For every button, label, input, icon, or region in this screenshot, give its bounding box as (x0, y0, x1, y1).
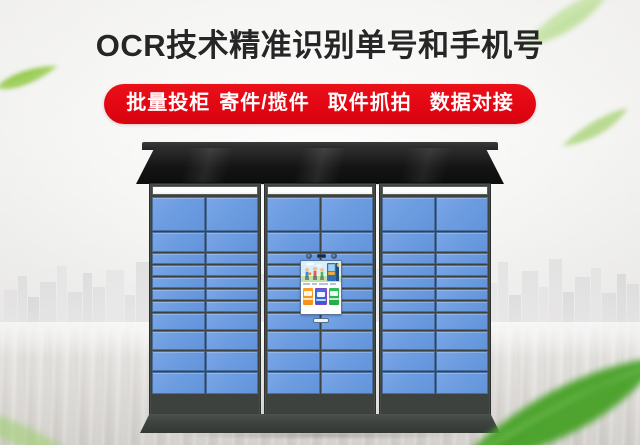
left-bay[interactable] (149, 183, 261, 417)
kiosk-banner-illustration (301, 261, 341, 282)
feature-pill-container: 批量投柜寄件/揽件取件抓拍数据对接 (0, 84, 640, 124)
deposit-tile-label (303, 298, 313, 300)
door-row (267, 232, 373, 252)
door-row (382, 289, 488, 300)
kiosk-screen[interactable] (300, 260, 342, 315)
box-icon (304, 291, 312, 296)
locker-door[interactable] (206, 265, 259, 276)
locker-door[interactable] (152, 313, 205, 330)
door-row (152, 351, 258, 371)
locker-door[interactable] (267, 197, 320, 231)
center-bay[interactable] (264, 183, 376, 417)
locker-door[interactable] (152, 253, 205, 264)
door-row (152, 277, 258, 288)
feature-item-2: 寄件/揽件 (219, 92, 310, 114)
locker-door[interactable] (382, 253, 435, 264)
door-row (382, 301, 488, 312)
door-row (382, 372, 488, 394)
pickup-tile-label (316, 299, 326, 301)
door-row (152, 265, 258, 276)
locker-door[interactable] (152, 232, 205, 252)
door-row (382, 265, 488, 276)
door-row (382, 331, 488, 350)
scanner-bar-icon (317, 254, 326, 258)
locker-door[interactable] (382, 301, 435, 312)
locker-door[interactable] (382, 289, 435, 300)
canopy-highlight (136, 148, 504, 184)
kiosk-action-tiles (301, 286, 341, 307)
locker-door[interactable] (436, 289, 489, 300)
locker-door[interactable] (206, 331, 259, 350)
cabinet-plinth (140, 414, 500, 433)
locker-door[interactable] (436, 351, 489, 371)
door-row (152, 331, 258, 350)
locker-door[interactable] (152, 289, 205, 300)
locker-door[interactable] (206, 253, 259, 264)
door-row (382, 313, 488, 330)
locker-door[interactable] (267, 351, 320, 371)
kiosk-screen-footer (301, 307, 341, 315)
locker-door[interactable] (152, 331, 205, 350)
locker-door[interactable] (152, 277, 205, 288)
door-row (382, 232, 488, 252)
locker-door[interactable] (206, 372, 259, 394)
right-bay[interactable] (379, 183, 491, 417)
locker-door[interactable] (382, 372, 435, 394)
door-row (267, 331, 373, 350)
locker-bays (149, 183, 491, 417)
feature-item-3: 取件抓拍 (328, 92, 412, 114)
locker-door[interactable] (436, 372, 489, 394)
door-row (152, 313, 258, 330)
locker-door[interactable] (267, 372, 320, 394)
door-row (382, 277, 488, 288)
locker-door[interactable] (152, 265, 205, 276)
locker-door[interactable] (206, 351, 259, 371)
locker-door[interactable] (382, 351, 435, 371)
pickup-tile[interactable] (315, 288, 327, 305)
locker-door[interactable] (382, 232, 435, 252)
locker-door[interactable] (436, 301, 489, 312)
left-bay-doors (152, 197, 258, 414)
feature-item-1: 批量投柜 (126, 92, 210, 114)
locker-door[interactable] (321, 351, 374, 371)
kiosk-status-strip (301, 282, 341, 286)
envelope-icon (317, 292, 325, 297)
locker-door[interactable] (152, 197, 205, 231)
door-row (152, 289, 258, 300)
locker-door[interactable] (206, 313, 259, 330)
locker-door[interactable] (321, 197, 374, 231)
door-row (152, 232, 258, 252)
locker-door[interactable] (436, 277, 489, 288)
card-reader-slot[interactable] (313, 318, 329, 323)
door-row (267, 197, 373, 231)
door-row (152, 253, 258, 264)
locker-door[interactable] (321, 232, 374, 252)
send-tile-label (329, 298, 339, 300)
smart-parcel-locker (136, 142, 504, 434)
door-row (382, 351, 488, 371)
locker-door[interactable] (382, 277, 435, 288)
right-bay-header-panel (382, 186, 488, 195)
door-row (152, 197, 258, 231)
locker-door[interactable] (206, 289, 259, 300)
locker-door[interactable] (152, 372, 205, 394)
promo-poster: OCR技术精准识别单号和手机号 批量投柜寄件/揽件取件抓拍数据对接 (0, 0, 640, 445)
door-row (152, 301, 258, 312)
locker-door[interactable] (436, 232, 489, 252)
locker-door[interactable] (436, 265, 489, 276)
camera-sensor-left-icon (306, 253, 312, 259)
locker-door[interactable] (382, 265, 435, 276)
touchscreen-kiosk[interactable] (300, 251, 342, 323)
banner-artwork-icon (301, 261, 341, 282)
deposit-tile[interactable] (303, 288, 313, 305)
locker-door[interactable] (206, 277, 259, 288)
door-row (267, 351, 373, 371)
center-bay-doors (267, 197, 373, 414)
kiosk-sensor-row (300, 251, 342, 260)
door-row (382, 253, 488, 264)
locker-door[interactable] (436, 331, 489, 350)
parcel-icon (330, 291, 338, 296)
door-row (152, 372, 258, 394)
locker-door[interactable] (152, 301, 205, 312)
locker-door[interactable] (436, 197, 489, 231)
locker-door[interactable] (436, 253, 489, 264)
send-tile[interactable] (329, 288, 339, 305)
left-bay-header-panel (152, 186, 258, 195)
locker-door[interactable] (321, 372, 374, 394)
center-bay-header-panel (267, 186, 373, 195)
feature-item-4: 数据对接 (430, 92, 514, 114)
locker-door[interactable] (382, 197, 435, 231)
feature-pill: 批量投柜寄件/揽件取件抓拍数据对接 (104, 84, 536, 124)
locker-door[interactable] (321, 331, 374, 350)
locker-door[interactable] (206, 197, 259, 231)
locker-door[interactable] (152, 351, 205, 371)
locker-door[interactable] (206, 232, 259, 252)
page-title: OCR技术精准识别单号和手机号 (0, 26, 640, 66)
locker-door[interactable] (382, 313, 435, 330)
locker-door[interactable] (436, 313, 489, 330)
door-row (267, 372, 373, 394)
locker-door[interactable] (267, 331, 320, 350)
door-row (382, 197, 488, 231)
locker-door[interactable] (382, 331, 435, 350)
locker-door[interactable] (267, 232, 320, 252)
locker-door[interactable] (206, 301, 259, 312)
camera-sensor-right-icon (331, 253, 337, 259)
right-bay-doors (382, 197, 488, 414)
